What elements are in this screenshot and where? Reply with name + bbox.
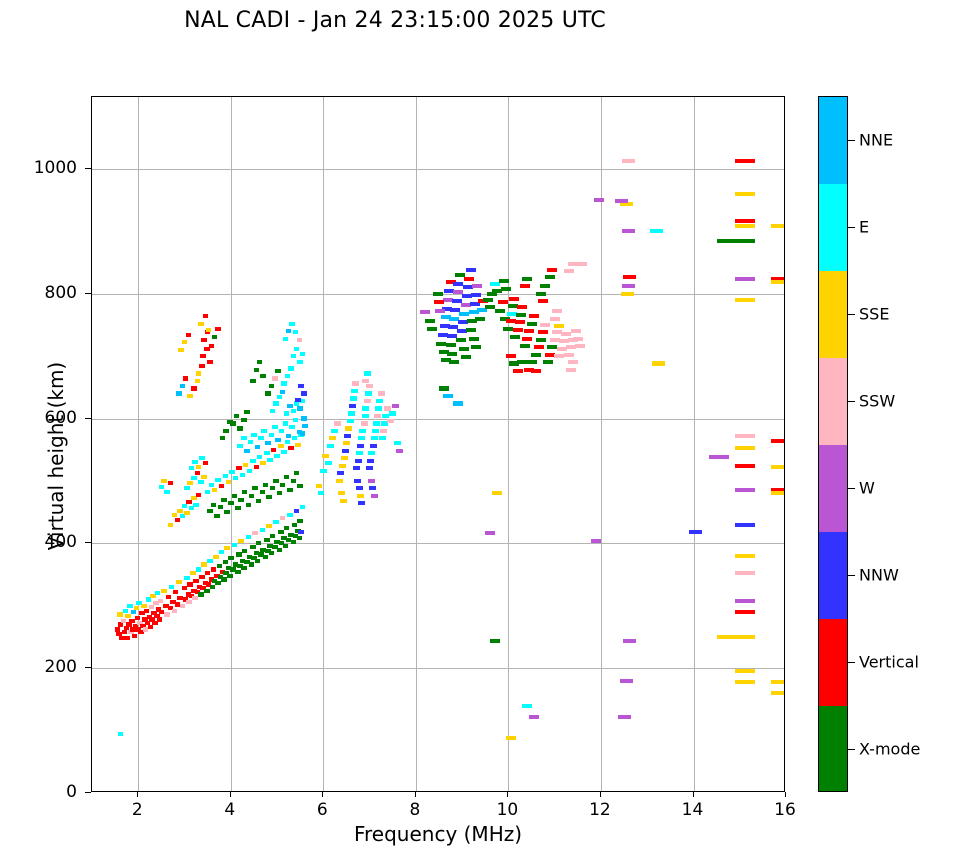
data-point	[205, 571, 211, 575]
data-point	[281, 450, 287, 454]
data-point	[291, 409, 297, 413]
data-point	[270, 534, 276, 538]
data-point	[735, 610, 755, 614]
colorbar-band-sse[interactable]	[819, 271, 847, 359]
data-point	[164, 612, 170, 616]
data-point	[270, 409, 276, 413]
data-point	[199, 575, 205, 579]
data-point	[215, 327, 221, 331]
data-point	[517, 305, 527, 309]
data-point	[349, 404, 356, 408]
data-point	[255, 445, 261, 449]
data-point	[247, 469, 253, 473]
colorbar-band-w[interactable]	[819, 445, 847, 533]
scatter-data-layer	[92, 97, 784, 791]
data-point	[219, 550, 225, 554]
data-point	[433, 292, 443, 296]
data-point	[420, 310, 430, 314]
data-point	[735, 224, 755, 228]
data-point	[387, 419, 394, 423]
data-point	[573, 337, 583, 341]
data-point	[182, 340, 188, 344]
data-point	[183, 376, 189, 380]
data-point	[547, 268, 557, 272]
x-tick-mark	[137, 792, 138, 797]
colorbar-tick-mark	[848, 227, 855, 228]
colorbar-tick-mark	[848, 488, 855, 489]
data-point	[524, 329, 534, 333]
data-point	[164, 490, 170, 494]
data-point	[217, 564, 223, 568]
data-point	[357, 494, 364, 498]
data-point	[735, 680, 755, 684]
data-point	[591, 539, 601, 543]
data-point	[622, 229, 635, 233]
data-point	[545, 275, 555, 279]
data-point	[320, 469, 327, 473]
data-point	[242, 490, 248, 494]
data-point	[318, 491, 324, 495]
data-point	[209, 344, 215, 348]
data-point	[717, 239, 737, 243]
data-point	[771, 491, 784, 495]
data-point	[436, 342, 446, 346]
data-point	[392, 404, 399, 408]
data-point	[191, 476, 197, 480]
data-point	[168, 523, 174, 527]
ionogram-figure: NAL CADI - Jan 24 23:15:00 2025 UTC 2468…	[0, 0, 958, 857]
data-point	[301, 416, 307, 420]
data-point	[232, 494, 238, 498]
data-point	[198, 592, 204, 596]
data-point	[288, 446, 294, 450]
data-point	[378, 391, 385, 395]
data-point	[366, 384, 373, 388]
data-point	[277, 395, 283, 399]
data-point	[229, 470, 235, 474]
colorbar-tick-mark	[848, 749, 855, 750]
data-point	[211, 503, 217, 507]
data-point	[354, 479, 361, 483]
data-point	[292, 436, 298, 440]
data-point	[534, 345, 544, 349]
data-point	[771, 439, 784, 443]
data-point	[531, 353, 541, 357]
data-point	[243, 463, 249, 467]
data-point	[650, 229, 663, 233]
data-point	[371, 494, 378, 498]
data-point	[263, 555, 269, 559]
data-point	[199, 364, 205, 368]
data-point	[475, 317, 485, 321]
data-point	[522, 277, 532, 281]
colorbar-band-nnw[interactable]	[819, 532, 847, 620]
data-point	[195, 379, 201, 383]
data-point	[516, 313, 526, 317]
data-point	[161, 479, 167, 483]
data-point	[466, 328, 476, 332]
data-point	[571, 329, 581, 333]
data-point	[123, 609, 129, 613]
data-point	[280, 483, 286, 487]
data-point	[260, 461, 266, 465]
data-point	[297, 536, 303, 540]
data-point	[513, 328, 523, 332]
data-point	[214, 514, 220, 518]
data-point	[453, 401, 463, 405]
x-tick-mark	[415, 792, 416, 797]
colorbar-label-nnw: NNW	[859, 565, 899, 584]
data-point	[273, 479, 279, 483]
data-point	[238, 539, 244, 543]
data-point	[550, 317, 560, 321]
data-point	[536, 338, 546, 342]
data-point	[273, 401, 279, 405]
data-point	[529, 715, 539, 719]
data-point	[771, 224, 784, 228]
data-point	[652, 361, 665, 365]
data-point	[278, 530, 284, 534]
data-point	[717, 635, 737, 639]
data-point	[384, 406, 391, 410]
data-point	[263, 483, 269, 487]
data-point	[201, 562, 207, 566]
data-point	[735, 239, 755, 243]
data-point	[266, 524, 272, 528]
data-point	[522, 337, 532, 341]
data-point	[427, 327, 437, 331]
colorbar-label-sse: SSE	[859, 304, 889, 323]
data-point	[226, 480, 232, 484]
data-point	[144, 609, 150, 613]
data-point	[260, 528, 266, 532]
data-point	[449, 360, 459, 364]
data-point	[709, 455, 729, 459]
data-point	[291, 354, 297, 358]
data-point	[221, 577, 227, 581]
x-tick-mark	[507, 792, 508, 797]
data-point	[198, 322, 204, 326]
data-point	[394, 441, 401, 445]
data-point	[509, 297, 519, 301]
data-point	[543, 360, 553, 364]
data-point	[735, 554, 755, 558]
data-point	[362, 414, 369, 418]
x-tick-label: 12	[589, 800, 611, 820]
data-point	[148, 625, 154, 629]
data-point	[190, 571, 196, 575]
data-point	[285, 440, 291, 444]
x-tick-mark	[322, 792, 323, 797]
data-point	[264, 451, 270, 455]
data-point	[485, 305, 495, 309]
data-point	[577, 262, 587, 266]
data-point	[265, 391, 271, 395]
data-point	[204, 589, 210, 593]
data-point	[466, 268, 476, 272]
data-point	[735, 277, 755, 281]
data-point	[172, 513, 178, 517]
data-point	[196, 567, 202, 571]
data-point	[510, 335, 520, 339]
data-point	[735, 599, 755, 603]
data-point	[278, 444, 284, 448]
data-point	[221, 498, 227, 502]
data-point	[294, 471, 300, 475]
data-point	[568, 262, 578, 266]
data-point	[186, 500, 192, 504]
data-point	[261, 429, 267, 433]
data-point	[180, 384, 186, 388]
x-tick-label: 2	[132, 800, 143, 820]
data-point	[118, 732, 124, 736]
data-point	[248, 440, 254, 444]
colorbar-band-vertical[interactable]	[819, 619, 847, 707]
data-point	[735, 571, 755, 575]
data-point	[284, 475, 290, 479]
data-point	[443, 394, 453, 398]
data-point	[199, 456, 205, 460]
data-point	[515, 320, 525, 324]
y-tick-mark	[85, 542, 91, 543]
data-point	[373, 421, 380, 425]
data-point	[161, 589, 167, 593]
data-point	[228, 556, 234, 560]
colorbar-band-ssw[interactable]	[819, 358, 847, 446]
data-point	[215, 478, 221, 482]
data-point	[227, 420, 233, 424]
data-point	[192, 460, 198, 464]
data-point	[246, 503, 252, 507]
data-point	[396, 449, 403, 453]
data-point	[771, 280, 784, 284]
data-point	[297, 519, 303, 523]
data-point	[298, 384, 304, 388]
data-point	[522, 704, 532, 708]
data-point	[203, 314, 209, 318]
data-point	[127, 604, 133, 608]
data-point	[249, 562, 255, 566]
data-point	[213, 555, 219, 559]
colorbar-band-e[interactable]	[819, 184, 847, 272]
x-tick-label: 10	[497, 800, 519, 820]
colorbar-band-x-mode[interactable]	[819, 706, 847, 792]
data-point	[594, 198, 604, 202]
page-title: NAL CADI - Jan 24 23:15:00 2025 UTC	[0, 8, 790, 33]
data-point	[623, 639, 636, 643]
data-point	[272, 425, 278, 429]
data-point	[168, 481, 174, 485]
data-point	[218, 505, 224, 509]
data-point	[269, 433, 275, 437]
colorbar-tick-mark	[848, 401, 855, 402]
data-point	[177, 509, 183, 513]
data-point	[250, 379, 256, 383]
data-point	[345, 426, 352, 430]
data-point	[211, 567, 217, 571]
data-point	[520, 344, 530, 348]
data-point	[186, 600, 192, 604]
data-point	[241, 436, 247, 440]
data-point	[347, 419, 354, 423]
data-point	[189, 466, 195, 470]
data-point	[233, 476, 239, 480]
data-point	[254, 368, 260, 372]
data-point	[117, 612, 123, 616]
data-point	[252, 486, 258, 490]
data-point	[260, 490, 266, 494]
data-point	[277, 548, 283, 552]
data-point	[236, 552, 242, 556]
data-point	[435, 309, 445, 313]
data-point	[283, 544, 289, 548]
data-point	[255, 559, 261, 563]
data-point	[293, 418, 299, 422]
plot-area[interactable]	[91, 96, 785, 792]
data-point	[621, 292, 634, 296]
x-tick-mark	[600, 792, 601, 797]
data-point	[196, 465, 202, 469]
y-tick-mark	[85, 293, 91, 294]
data-point	[368, 479, 375, 483]
data-point	[134, 606, 140, 610]
data-point	[286, 434, 292, 438]
data-point	[180, 604, 186, 608]
data-point	[192, 596, 198, 600]
data-point	[252, 531, 258, 535]
data-point	[235, 570, 241, 574]
data-point	[771, 680, 784, 684]
data-point	[184, 511, 190, 515]
data-point	[294, 347, 300, 351]
colorbar-band-nne[interactable]	[819, 97, 847, 185]
data-point	[531, 369, 541, 373]
data-point	[356, 451, 363, 455]
x-tick-label: 6	[317, 800, 328, 820]
colorbar-tick-mark	[848, 314, 855, 315]
data-point	[293, 330, 299, 334]
data-point	[425, 319, 435, 323]
data-point	[575, 344, 585, 348]
data-point	[249, 494, 255, 498]
data-point	[348, 411, 355, 415]
data-point	[353, 466, 360, 470]
data-point	[280, 516, 286, 520]
data-point	[540, 284, 550, 288]
data-point	[265, 441, 271, 445]
data-point	[375, 406, 382, 410]
data-point	[288, 366, 294, 370]
data-point	[735, 434, 755, 438]
data-point	[203, 461, 209, 465]
data-point	[351, 389, 358, 393]
data-point	[370, 444, 377, 448]
data-point	[364, 399, 371, 403]
data-point	[295, 443, 301, 447]
data-point	[622, 284, 635, 288]
data-point	[341, 456, 348, 460]
data-point	[280, 390, 286, 394]
data-point	[258, 436, 264, 440]
data-point	[124, 636, 130, 640]
colorbar-label-ssw: SSW	[859, 391, 895, 410]
x-axis-label: Frequency (MHz)	[91, 822, 785, 846]
data-point	[212, 335, 218, 339]
data-point	[771, 691, 784, 695]
data-point	[362, 379, 369, 383]
data-point	[364, 371, 371, 375]
data-point	[246, 535, 252, 539]
data-point	[232, 543, 238, 547]
data-point	[536, 292, 546, 296]
data-point	[499, 279, 509, 283]
data-point	[240, 473, 246, 477]
data-point	[376, 399, 383, 403]
data-point	[224, 546, 230, 550]
data-point	[238, 498, 244, 502]
data-point	[336, 479, 343, 483]
data-point	[343, 441, 350, 445]
data-point	[157, 617, 163, 621]
data-point	[300, 505, 306, 509]
data-point	[215, 581, 221, 585]
data-point	[483, 298, 493, 302]
data-point	[198, 480, 204, 484]
data-point	[331, 429, 338, 433]
data-point	[126, 622, 132, 626]
colorbar-label-e: E	[859, 217, 869, 236]
data-point	[340, 499, 347, 503]
data-point	[492, 491, 502, 495]
data-point	[269, 384, 275, 388]
data-point	[447, 352, 457, 356]
colorbar-label-w: W	[859, 478, 875, 497]
data-point	[256, 499, 262, 503]
data-point	[362, 406, 369, 410]
data-point	[501, 287, 511, 291]
data-point	[456, 338, 466, 342]
data-point	[220, 436, 226, 440]
data-point	[464, 277, 474, 281]
y-axis-label: Virtual height (km)	[44, 108, 68, 804]
data-point	[366, 466, 373, 470]
data-point	[735, 446, 755, 450]
data-point	[176, 580, 182, 584]
data-point	[338, 491, 345, 495]
data-point	[182, 586, 188, 590]
colorbar[interactable]	[818, 96, 848, 792]
data-point	[301, 391, 307, 395]
data-point	[620, 679, 633, 683]
data-point	[193, 503, 199, 507]
data-point	[735, 159, 755, 163]
data-point	[434, 300, 444, 304]
data-point	[735, 635, 755, 639]
data-point	[615, 199, 628, 203]
data-point	[275, 438, 281, 442]
data-point	[498, 300, 508, 304]
data-point	[297, 406, 303, 410]
data-point	[357, 444, 364, 448]
data-point	[297, 484, 303, 488]
data-point	[469, 337, 479, 341]
data-point	[250, 459, 256, 463]
data-point	[369, 486, 376, 490]
data-point	[295, 398, 301, 402]
data-point	[196, 371, 202, 375]
data-point	[735, 488, 755, 492]
data-point	[322, 454, 329, 458]
